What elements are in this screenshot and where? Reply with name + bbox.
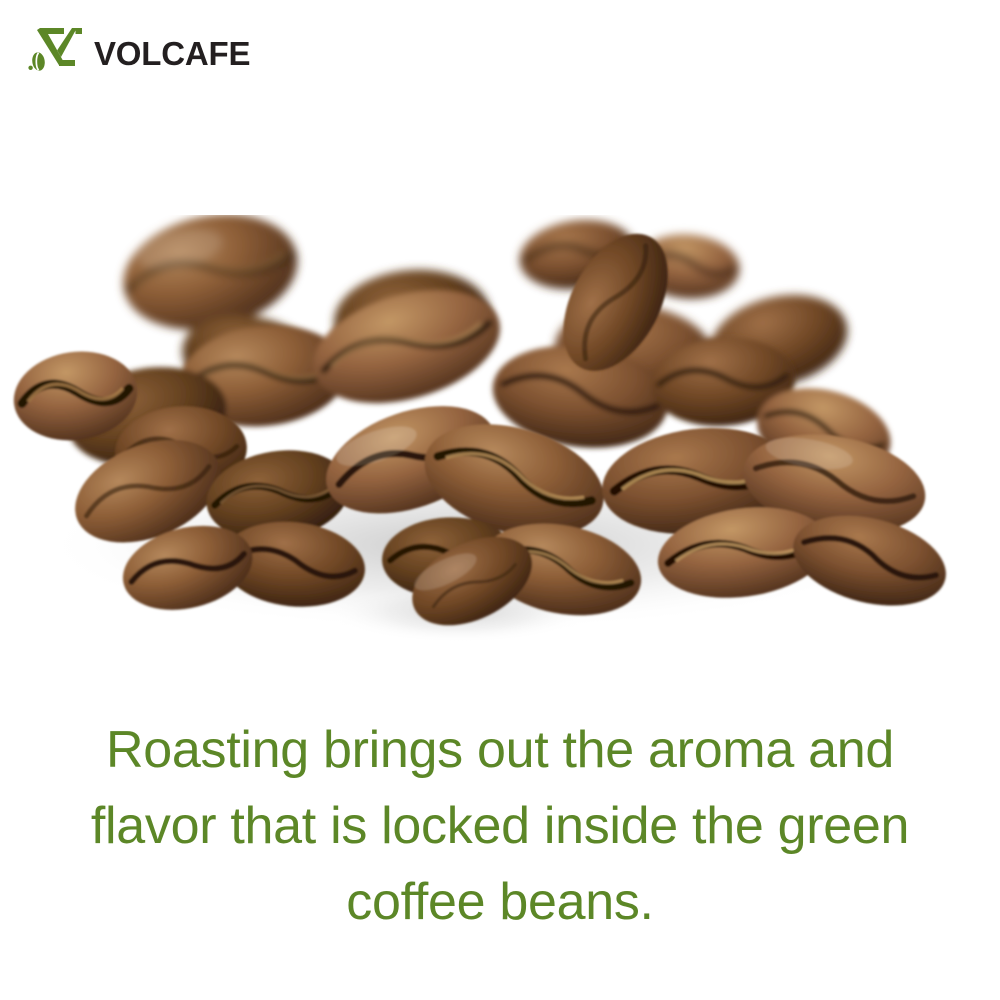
- volcafe-wordmark: VOLCAFE: [94, 37, 250, 70]
- volcafe-mark-icon: [28, 20, 86, 78]
- coffee-bean-glyph-icon: [31, 52, 46, 72]
- page-root: VOLCAFE: [0, 0, 1000, 1000]
- caption-line-2: flavor that is locked inside the green: [0, 788, 1000, 864]
- volcafe-logo[interactable]: VOLCAFE: [28, 20, 250, 78]
- coffee-beans-photo: [0, 215, 1000, 685]
- caption-line-1: Roasting brings out the aroma and: [0, 712, 1000, 788]
- caption-line-3: coffee beans.: [0, 864, 1000, 940]
- caption-text: Roasting brings out the aroma and flavor…: [0, 712, 1000, 940]
